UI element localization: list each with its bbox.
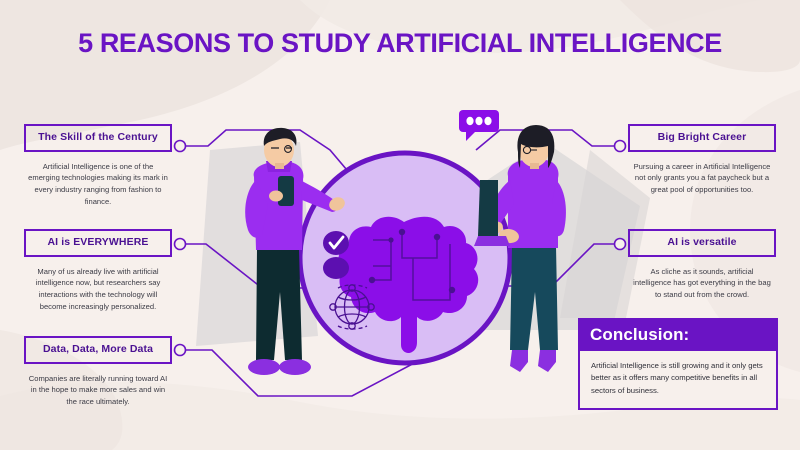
callout-skill-heading: The Skill of the Century bbox=[24, 124, 172, 152]
callout-versatile-heading: AI is versatile bbox=[628, 229, 776, 257]
dot-badge-icon bbox=[323, 257, 349, 279]
conclusion-heading: Conclusion: bbox=[580, 320, 776, 351]
callout-data-more-data[interactable]: Data, Data, More Data Companies are lite… bbox=[24, 336, 172, 408]
callout-big-bright-career[interactable]: Big Bright Career Pursuing a career in A… bbox=[628, 124, 776, 196]
callout-ai-is-everywhere[interactable]: AI is EVERYWHERE Many of us already live… bbox=[24, 229, 172, 313]
callout-everywhere-heading: AI is EVERYWHERE bbox=[24, 229, 172, 257]
callout-ai-is-versatile[interactable]: AI is versatile As cliche as it sounds, … bbox=[628, 229, 776, 301]
callout-skill-body: Artificial Intelligence is one of the em… bbox=[24, 161, 172, 208]
callout-data-body: Companies are literally running toward A… bbox=[24, 373, 172, 408]
callout-versatile-body: As cliche as it sounds, artificial intel… bbox=[628, 266, 776, 301]
chat-bubble-icon bbox=[459, 110, 499, 141]
callout-career-body: Pursuing a career in Artificial Intellig… bbox=[628, 161, 776, 196]
callout-everywhere-body: Many of us already live with artificial … bbox=[24, 266, 172, 313]
check-badge-icon bbox=[323, 231, 349, 255]
callout-career-heading: Big Bright Career bbox=[628, 124, 776, 152]
callout-skill-of-the-century[interactable]: The Skill of the Century Artificial Inte… bbox=[24, 124, 172, 208]
conclusion-panel[interactable]: Conclusion: Artificial Intelligence is s… bbox=[578, 318, 778, 410]
conclusion-body: Artificial Intelligence is still growing… bbox=[580, 351, 776, 408]
infographic-canvas: 5 REASONS TO STUDY ARTIFICIAL INTELLIGEN… bbox=[0, 0, 800, 450]
page-title: 5 REASONS TO STUDY ARTIFICIAL INTELLIGEN… bbox=[0, 28, 800, 59]
callout-data-heading: Data, Data, More Data bbox=[24, 336, 172, 364]
